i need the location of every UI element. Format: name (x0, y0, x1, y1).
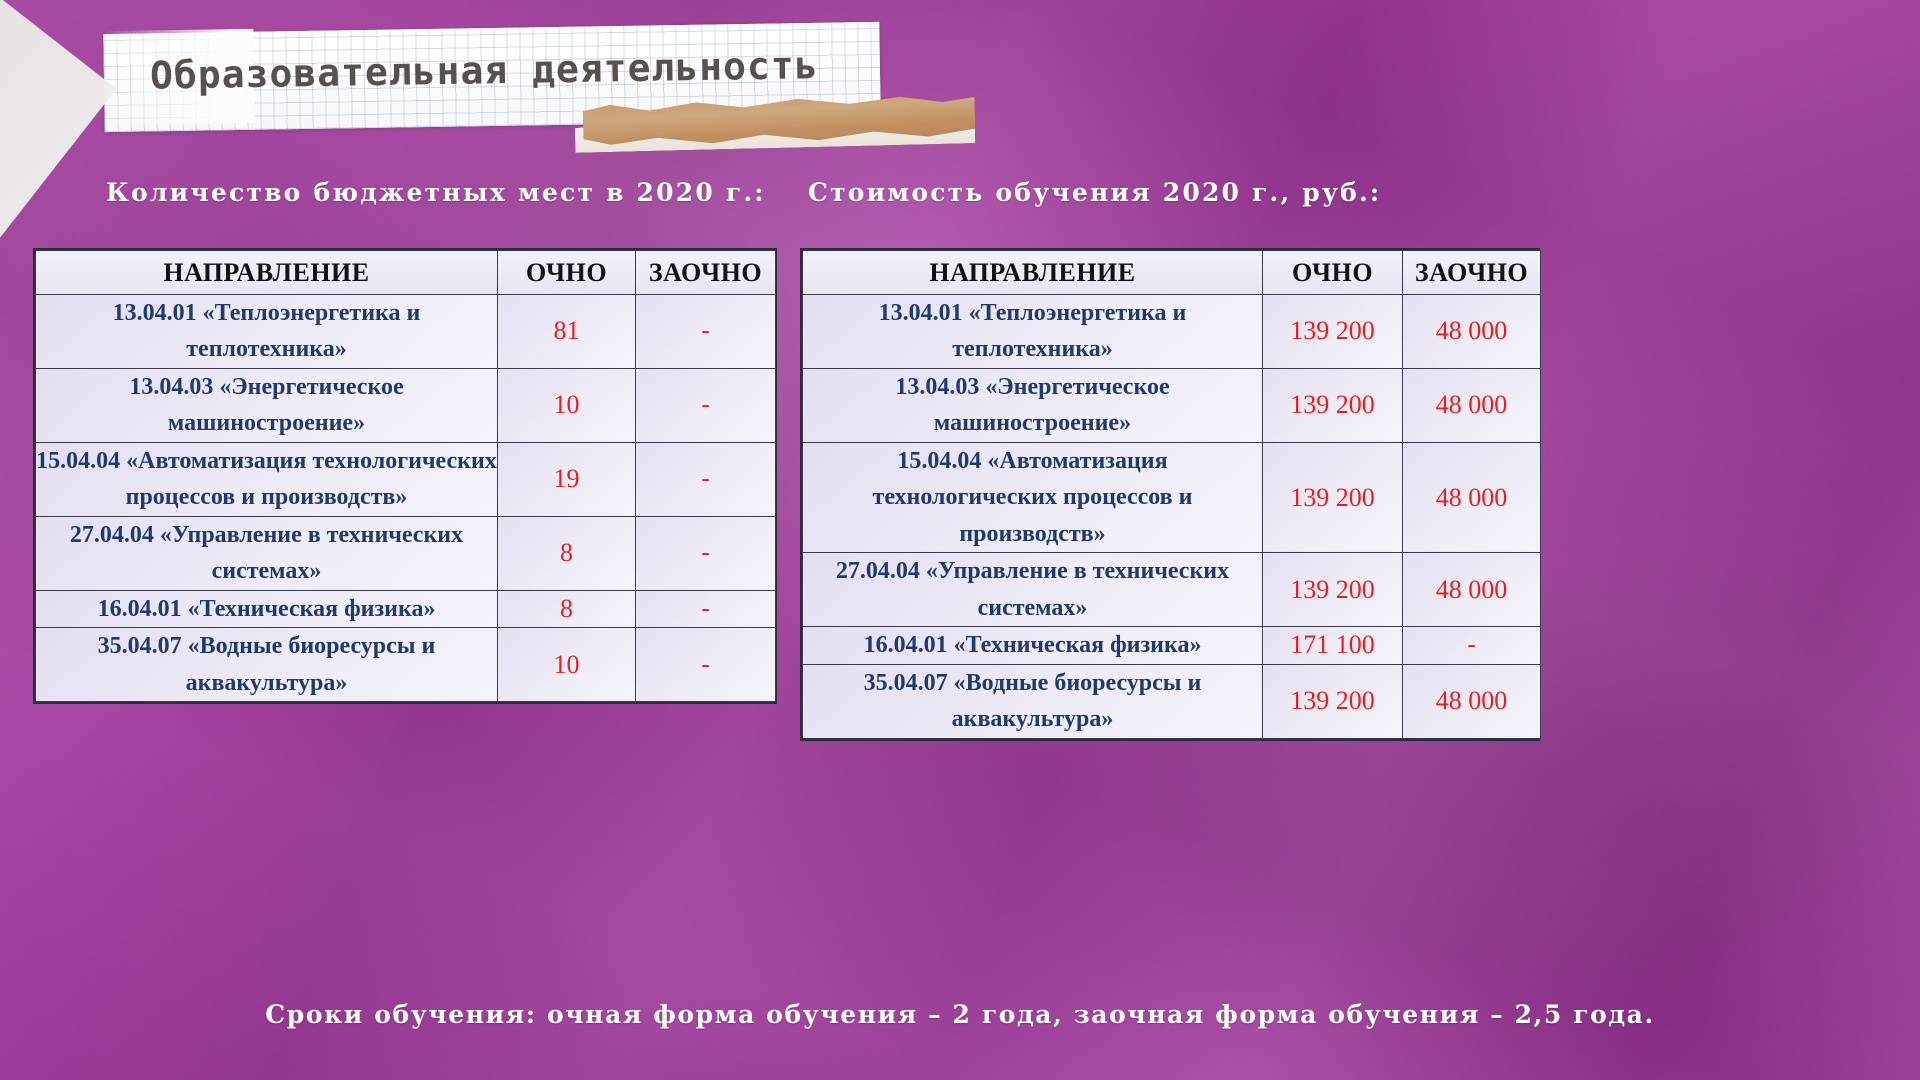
cell-ochno: 10 (498, 368, 636, 442)
cell-zaochno: - (636, 516, 776, 590)
cell-zaochno: 48 000 (1403, 442, 1541, 552)
column-header-zaochno: ЗАОЧНО (1403, 251, 1541, 295)
table-row: 16.04.01 «Техническая физика» 8 - (36, 590, 776, 627)
cell-ochno: 139 200 (1263, 368, 1403, 442)
cell-ochno: 139 200 (1263, 664, 1403, 738)
table-row: 35.04.07 «Водные биоресурсы и аквакульту… (803, 664, 1541, 738)
cell-direction: 35.04.07 «Водные биоресурсы и аквакульту… (803, 664, 1263, 738)
cell-zaochno: 48 000 (1403, 553, 1541, 627)
cell-ochno: 19 (498, 442, 636, 516)
cell-direction: 16.04.01 «Техническая физика» (36, 590, 498, 627)
cell-zaochno: 48 000 (1403, 368, 1541, 442)
cell-ochno: 81 (498, 295, 636, 369)
cell-direction: 27.04.04 «Управление в технических систе… (36, 516, 498, 590)
cell-ochno: 139 200 (1263, 295, 1403, 369)
cell-zaochno: - (1403, 627, 1541, 664)
column-header-ochno: ОЧНО (1263, 251, 1403, 295)
cell-ochno: 8 (498, 516, 636, 590)
cell-ochno: 171 100 (1263, 627, 1403, 664)
budget-places-table: НАПРАВЛЕНИЕ ОЧНО ЗАОЧНО 13.04.01 «Теплоэ… (33, 248, 777, 704)
table-row: 13.04.01 «Теплоэнергетика и теплотехника… (36, 295, 776, 369)
column-header-ochno: ОЧНО (498, 251, 636, 295)
table-header-row: НАПРАВЛЕНИЕ ОЧНО ЗАОЧНО (36, 251, 776, 295)
cell-ochno: 139 200 (1263, 442, 1403, 552)
cell-direction: 15.04.04 «Автоматизация технологических … (36, 442, 498, 516)
cell-direction: 13.04.01 «Теплоэнергетика и теплотехника… (803, 295, 1263, 369)
cell-zaochno: 48 000 (1403, 295, 1541, 369)
cell-direction: 15.04.04 «Автоматизация технологических … (803, 442, 1263, 552)
cell-zaochno: 48 000 (1403, 664, 1541, 738)
table-row: 13.04.03 «Энергетическое машиностроение»… (803, 368, 1541, 442)
cell-ochno: 139 200 (1263, 553, 1403, 627)
cell-ochno: 8 (498, 590, 636, 627)
cell-direction: 13.04.03 «Энергетическое машиностроение» (36, 368, 498, 442)
cell-zaochno: - (636, 628, 776, 702)
table-row: 15.04.04 «Автоматизация технологических … (803, 442, 1541, 552)
header-decoration (0, 0, 1100, 175)
table-row: 13.04.01 «Теплоэнергетика и теплотехника… (803, 295, 1541, 369)
table-row: 13.04.03 «Энергетическое машиностроение»… (36, 368, 776, 442)
right-table-subtitle: Стоимость обучения 2020 г., руб.: (808, 178, 1381, 207)
cell-zaochno: - (636, 295, 776, 369)
cell-zaochno: - (636, 590, 776, 627)
table-row: 27.04.04 «Управление в технических систе… (803, 553, 1541, 627)
table-row: 35.04.07 «Водные биоресурсы и аквакульту… (36, 628, 776, 702)
table-row: 15.04.04 «Автоматизация технологических … (36, 442, 776, 516)
table-row: 27.04.04 «Управление в технических систе… (36, 516, 776, 590)
cell-ochno: 10 (498, 628, 636, 702)
table-row: 16.04.01 «Техническая физика» 171 100 - (803, 627, 1541, 664)
left-table-subtitle: Количество бюджетных мест в 2020 г.: (106, 178, 766, 207)
cell-direction: 27.04.04 «Управление в технических систе… (803, 553, 1263, 627)
cell-direction: 13.04.01 «Теплоэнергетика и теплотехника… (36, 295, 498, 369)
table-header-row: НАПРАВЛЕНИЕ ОЧНО ЗАОЧНО (803, 251, 1541, 295)
cell-zaochno: - (636, 442, 776, 516)
training-duration-note: Сроки обучения: очная форма обучения – 2… (0, 1000, 1920, 1029)
cell-zaochno: - (636, 368, 776, 442)
column-header-zaochno: ЗАОЧНО (636, 251, 776, 295)
cell-direction: 13.04.03 «Энергетическое машиностроение» (803, 368, 1263, 442)
cell-direction: 35.04.07 «Водные биоресурсы и аквакульту… (36, 628, 498, 702)
cell-direction: 16.04.01 «Техническая физика» (803, 627, 1263, 664)
column-header-direction: НАПРАВЛЕНИЕ (36, 251, 498, 295)
tuition-cost-table: НАПРАВЛЕНИЕ ОЧНО ЗАОЧНО 13.04.01 «Теплоэ… (800, 248, 1540, 741)
column-header-direction: НАПРАВЛЕНИЕ (803, 251, 1263, 295)
